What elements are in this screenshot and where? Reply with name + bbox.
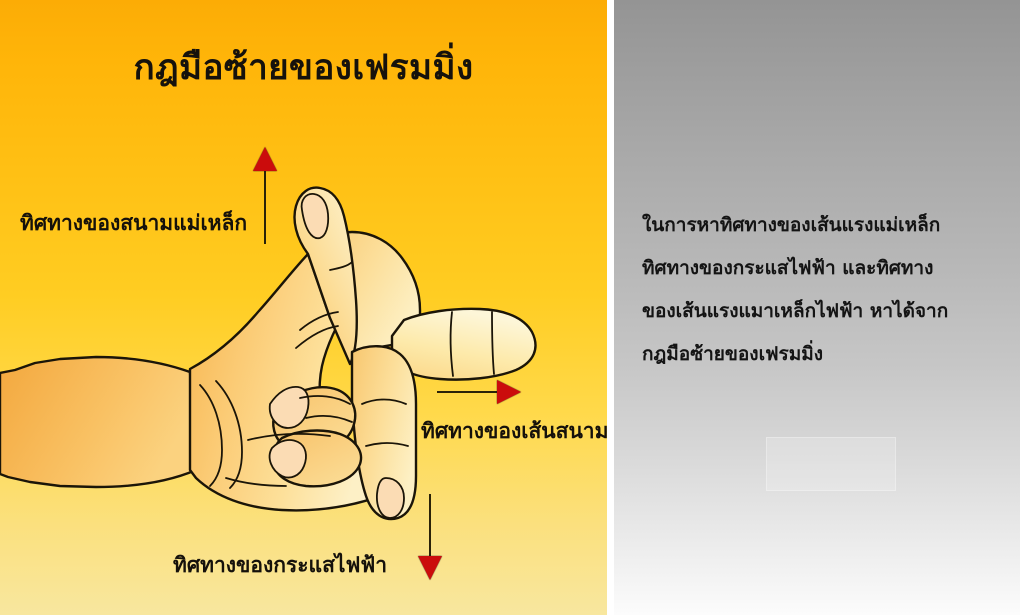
label-magnetic-field-direction: ทิศทางของสนามแม่เหล็ก <box>20 207 247 240</box>
arrow-right-icon <box>497 380 521 404</box>
body-line: กฎมือซ้ายของเฟรมมิ่ง <box>642 333 992 376</box>
right-text-panel: ในการหาทิศทางของเส้นแรงแม่เหล็ก ทิศทางขอ… <box>614 0 1020 615</box>
content-placeholder-box <box>766 437 896 491</box>
arrow-right-shaft <box>437 391 499 393</box>
arrow-up-icon <box>253 147 277 171</box>
arrow-down-icon <box>418 556 442 580</box>
arrow-down-shaft <box>429 494 431 558</box>
left-hand-illustration <box>0 0 607 615</box>
hand-wrist <box>0 357 196 487</box>
body-line: ของเส้นแรงแมาเหล็กไฟฟ้า หาได้จาก <box>642 290 992 333</box>
body-line: ทิศทางของกระแสไฟฟ้า และทิศทาง <box>642 247 992 290</box>
little-finger-tip <box>270 440 306 478</box>
label-electric-current-direction: ทิศทางของกระแสไฟฟ้า <box>173 549 387 582</box>
panel-divider <box>607 0 614 615</box>
body-paragraph: ในการหาทิศทางของเส้นแรงแม่เหล็ก ทิศทางขอ… <box>642 204 992 376</box>
body-line: ในการหาทิศทางของเส้นแรงแม่เหล็ก <box>642 204 992 247</box>
slide-canvas: กฎมือซ้ายของเฟรมมิ่ง <box>0 0 1020 615</box>
hand-index-finger <box>392 309 535 380</box>
arrow-up-shaft <box>264 168 266 244</box>
left-illustration-panel: กฎมือซ้ายของเฟรมมิ่ง <box>0 0 607 615</box>
middle-finger-nail <box>377 478 404 518</box>
